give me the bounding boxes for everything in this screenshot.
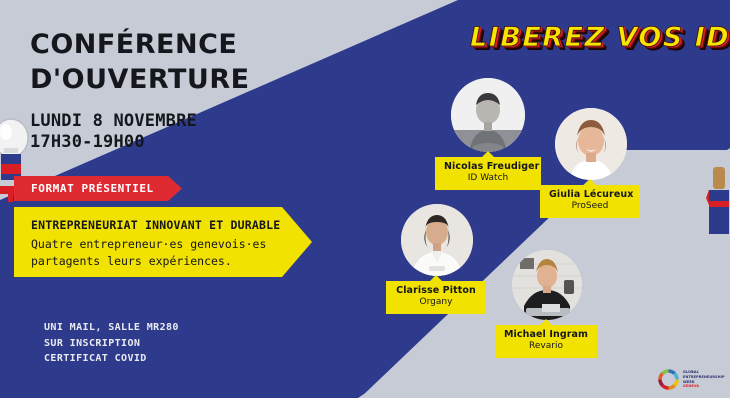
portrait-clarisse-pitton [401,204,473,276]
portrait-michael-ingram [512,250,582,320]
gew-logo: GLOBAL ENTREPRENEURSHIP WEEK GENEVA [658,369,725,390]
bottom-white-strip [0,398,730,411]
gew-ring-icon [658,369,679,390]
speaker-nameplate: Clarisse Pitton Organy [386,281,486,314]
venue-line-2: SUR INSCRIPTION [44,336,179,352]
speaker-card: Nicolas Freudiger ID Watch [451,78,541,190]
venue-line-3: CERTIFICAT COVID [44,351,179,367]
speaker-card: Giulia Lécureux ProSeed [553,108,640,218]
speaker-card: Clarisse Pitton Organy [398,204,486,314]
topic-description-line-1: Quatre entrepreneur·es genevois·es [31,237,266,251]
topic-description: Quatre entrepreneur·es genevois·es parta… [31,236,312,269]
gew-logo-line-4: GENEVA [683,384,725,389]
speaker-name: Giulia Lécureux [549,189,631,201]
gew-logo-line-2: ENTREPRENEURSHIP [683,375,725,380]
event-datetime: LUNDI 8 NOVEMBRE 17H30-19H00 [30,111,360,153]
speaker-nameplate: Michael Ingram Revario [495,325,597,358]
title-line-1: CONFÉRENCE [30,29,237,60]
portrait-nicolas-freudiger [451,78,525,152]
topic-headline: ENTREPRENEURIAT INNOVANT ET DURABLE [31,218,312,232]
page-title: CONFÉRENCE D'OUVERTURE [30,28,360,97]
topic-description-line-2: partagents leurs expériences. [31,254,232,268]
speaker-name: Nicolas Freudiger [444,161,532,173]
speaker-nameplate: Nicolas Freudiger ID Watch [435,157,541,190]
topic-banner: ENTREPRENEURIAT INNOVANT ET DURABLE Quat… [14,207,312,277]
heading-block: CONFÉRENCE D'OUVERTURE LUNDI 8 NOVEMBRE … [30,28,360,153]
speaker-organization: Organy [395,297,477,309]
speaker-name: Clarisse Pitton [395,285,477,297]
speaker-name: Michael Ingram [504,329,588,341]
venue-info: UNI MAIL, SALLE MR280 SUR INSCRIPTION CE… [44,320,179,367]
format-banner-label: FORMAT PRÉSENTIEL [31,182,154,195]
speaker-organization: ID Watch [444,173,532,185]
event-date: LUNDI 8 NOVEMBRE [30,111,197,131]
speaker-organization: Revario [504,341,588,353]
conference-poster: CONFÉRENCE D'OUVERTURE LUNDI 8 NOVEMBRE … [0,0,730,411]
pawn-character-icon [706,165,730,237]
title-line-2: D'OUVERTURE [30,64,250,95]
speaker-nameplate: Giulia Lécureux ProSeed [540,185,640,218]
event-time: 17H30-19H00 [30,132,145,152]
gew-logo-text: GLOBAL ENTREPRENEURSHIP WEEK GENEVA [683,370,725,389]
venue-line-1: UNI MAIL, SALLE MR280 [44,320,179,336]
speaker-organization: ProSeed [549,201,631,213]
campaign-headline: LIBEREZ VOS IDEES [470,22,730,53]
format-banner: FORMAT PRÉSENTIEL [14,176,182,201]
speaker-card: Michael Ingram Revario [509,250,597,358]
portrait-giulia-lecureux [555,108,627,180]
